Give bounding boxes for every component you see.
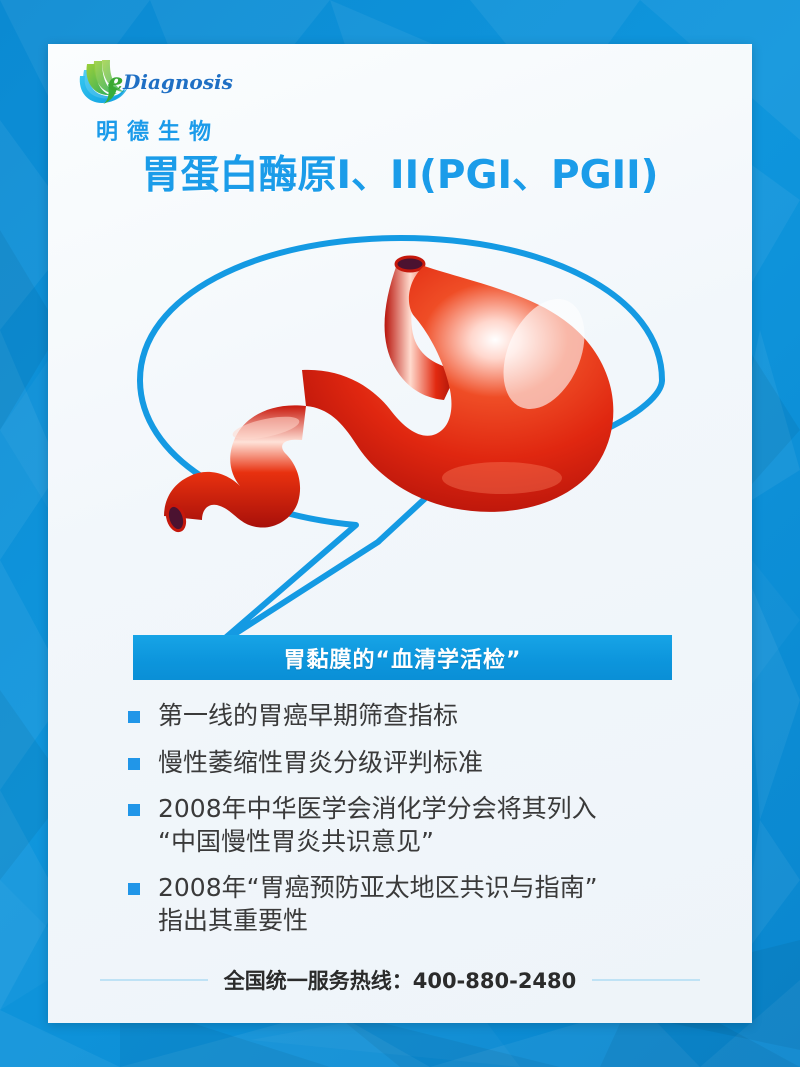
section-banner-label: 胃黏膜的“血清学活检”: [284, 642, 522, 674]
list-item-label: 慢性萎缩性胃炎分级评判标准: [158, 747, 483, 780]
brand-logo: e Diagnosis 明德生物: [74, 56, 334, 156]
poster: e Diagnosis 明德生物 胃蛋白酶原I、II(PGI、PGII): [0, 0, 800, 1067]
bullet-square-icon: [128, 758, 140, 770]
feature-list: 第一线的胃癌早期筛查指标 慢性萎缩性胃炎分级评判标准 2008年中华医学会消化学…: [128, 700, 728, 951]
svg-text:Diagnosis: Diagnosis: [122, 70, 233, 94]
company-name-cn: 明德生物: [96, 114, 220, 146]
list-item: 第一线的胃癌早期筛查指标: [128, 700, 728, 733]
list-item-label: 2008年中华医学会消化学分会将其列入 “中国慢性胃炎共识意见”: [158, 793, 597, 858]
ediagnosis-leaf-logo-icon: e Diagnosis: [74, 56, 244, 108]
content-card: e Diagnosis 明德生物 胃蛋白酶原I、II(PGI、PGII): [48, 44, 752, 1023]
list-item-label: 2008年“胃癌预防亚太地区共识与指南” 指出其重要性: [158, 872, 598, 937]
bullet-square-icon: [128, 804, 140, 816]
hotline-text: 全国统一服务热线：400-880-2480: [208, 965, 593, 995]
bullet-square-icon: [128, 883, 140, 895]
list-item-label: 第一线的胃癌早期筛查指标: [158, 700, 458, 733]
bullet-square-icon: [128, 711, 140, 723]
svg-text:e: e: [108, 67, 123, 96]
list-item: 2008年“胃癌预防亚太地区共识与指南” 指出其重要性: [128, 872, 728, 937]
list-item: 慢性萎缩性胃炎分级评判标准: [128, 747, 728, 780]
footer-rule-left: [100, 979, 208, 981]
footer-rule-right: [592, 979, 700, 981]
list-item: 2008年中华医学会消化学分会将其列入 “中国慢性胃炎共识意见”: [128, 793, 728, 858]
page-title: 胃蛋白酶原I、II(PGI、PGII): [48, 144, 752, 200]
footer: 全国统一服务热线：400-880-2480: [48, 957, 752, 1003]
section-banner: 胃黏膜的“血清学活检”: [133, 635, 672, 680]
stomach-in-speech-bubble-icon: [106, 220, 696, 660]
